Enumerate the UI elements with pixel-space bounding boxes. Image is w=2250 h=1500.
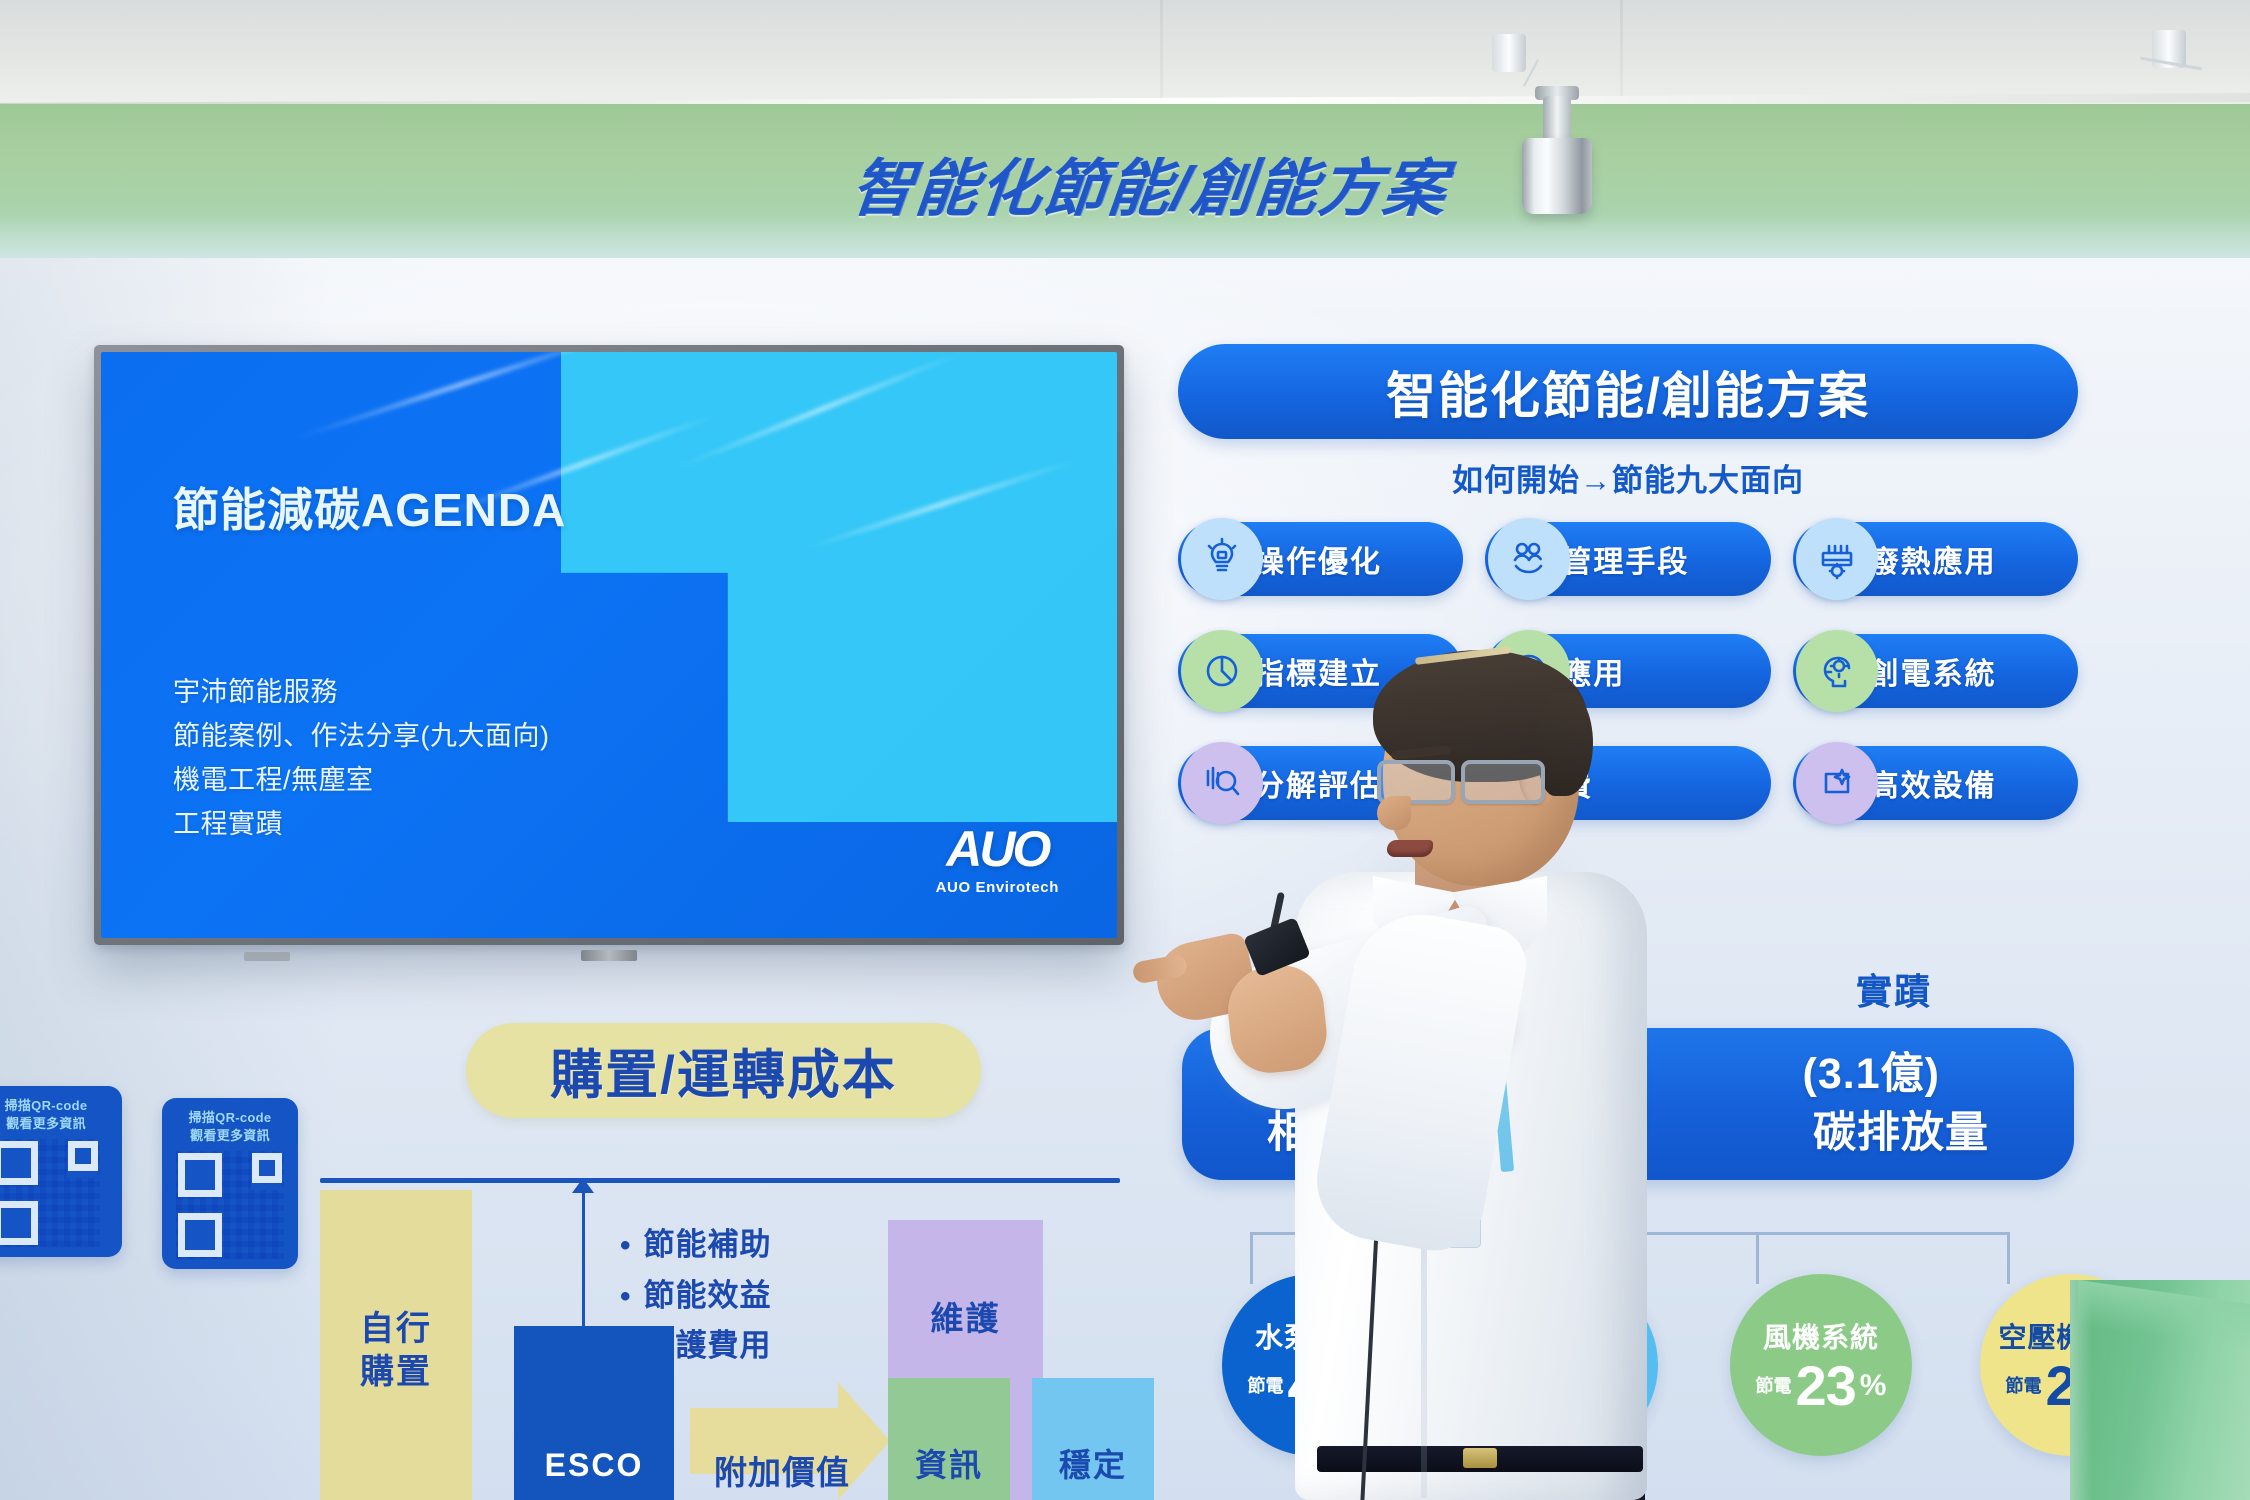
exhibition-booth-photo: 智能化節能/創能方案 節能減碳AGENDA 宇沛節能服務 節能案例、作法分享(九… (0, 0, 2250, 1500)
aspect-pill-waste-heat-application[interactable]: 廢熱應用 (1793, 522, 2078, 596)
slide-bullet-item: 節能案例、作法分享(九大面向) (173, 714, 549, 758)
qr-card-line-2: 觀看更多資訊 (0, 1115, 112, 1133)
qr-card-line-1: 掃描QR-code (172, 1109, 288, 1127)
auo-logo-mark: AUO (936, 824, 1059, 874)
spotlight-bracket (1492, 34, 1526, 72)
auo-logo-subtitle: AUO Envirotech (936, 879, 1059, 896)
metric-unit: % (1860, 1369, 1887, 1403)
chart-bar-label: 穩定 (1032, 1440, 1154, 1486)
poster-header-title: 智能化節能/創能方案 (1386, 356, 1870, 428)
chart-bar-label: 自行購置 (320, 1308, 472, 1393)
metric-tag: 節電 (1756, 1377, 1792, 1395)
metric-name: 風機系統 (1763, 1316, 1879, 1356)
presenter-mouth (1387, 840, 1433, 857)
aspect-pill-management-method[interactable]: 管理手段 (1485, 522, 1770, 596)
display-bezel-sticker (244, 952, 290, 961)
aspect-pill-label: 創電系統 (1869, 649, 1997, 693)
lightbulb-icon (1181, 518, 1263, 600)
slide-bullet-item: 宇沛節能服務 (173, 670, 549, 714)
auo-logo: AUO AUO Envirotech (936, 824, 1059, 896)
slide-cyan-shape (561, 352, 1117, 822)
sparkle-box-icon (1796, 742, 1878, 824)
metric-value-row: 節電 23 % (1756, 1358, 1887, 1414)
chart-bar-label: 資訊 (888, 1440, 1010, 1486)
presenter-nose (1377, 796, 1411, 830)
metric-value: 23 (1796, 1358, 1856, 1414)
qr-card-left-cut[interactable]: 掃描QR-code 觀看更多資訊 (0, 1086, 122, 1257)
chart-bar-self-purchase: 自行購置 (320, 1190, 472, 1500)
qr-card-line-1: 掃描QR-code (0, 1097, 112, 1115)
aspect-pill-label: 操作優化 (1254, 537, 1382, 581)
savings-bullet-item: 節能效益 (620, 1271, 772, 1322)
poster-header-pill: 智能化節能/創能方案 (1178, 344, 2078, 439)
aspect-pill-power-generation-system[interactable]: 創電系統 (1793, 634, 2078, 708)
slide-bullet-list: 宇沛節能服務 節能案例、作法分享(九大面向) 機電工程/無塵室 工程實蹟 (173, 670, 549, 846)
ceiling-panel-seam (1160, 0, 1163, 100)
savings-bullet-item: 節能補助 (620, 1220, 772, 1271)
aspect-pill-operation-optimization[interactable]: 操作優化 (1178, 522, 1463, 596)
qr-code-image (176, 1151, 284, 1259)
aspect-pill-high-efficiency-equipment[interactable]: 高效設備 (1793, 746, 2078, 820)
stats-line-1-right: (3.1億) (1803, 1050, 1940, 1098)
metric-circle-fan: 風機系統 節電 23 % (1730, 1274, 1912, 1456)
stats-line-2-right: 碳排放量 (1813, 1109, 1989, 1157)
stats-year-suffix: 實蹟 (1856, 971, 1932, 1012)
qr-card[interactable]: 掃描QR-code 觀看更多資訊 (162, 1098, 298, 1269)
slide-bullet-item: 工程實蹟 (173, 802, 549, 846)
cost-comparison-chart: 自行購置 節能補助 節能效益 維護費用 ESCO 附加價值 維護 資訊 穩定 (320, 1178, 1120, 1500)
chart-bar-label: 維護 (888, 1292, 1043, 1340)
poster-subtitle: 如何開始→節能九大面向 (1178, 455, 2078, 500)
aspect-pill-label: 廢熱應用 (1869, 537, 1997, 581)
display-screen: 節能減碳AGENDA 宇沛節能服務 節能案例、作法分享(九大面向) 機電工程/無… (101, 352, 1117, 938)
brain-head-icon (1796, 630, 1878, 712)
people-hand-icon (1488, 518, 1570, 600)
green-display-block (2070, 1280, 2250, 1500)
ceiling-panel-seam (1620, 0, 1623, 100)
chart-bar-stability: 穩定 (1032, 1378, 1154, 1500)
glasses-lens-right (1461, 760, 1545, 804)
display-bezel-badge (581, 950, 637, 961)
slide-title: 節能減碳AGENDA (173, 474, 566, 540)
chart-bar-information: 資訊 (888, 1378, 1010, 1500)
chart-bar-label: ESCO (514, 1447, 674, 1484)
qr-code-image (0, 1139, 100, 1247)
chart-bar-esco: ESCO (514, 1326, 674, 1500)
wall-mounted-display: 節能減碳AGENDA 宇沛節能服務 節能案例、作法分享(九大面向) 機電工程/無… (94, 345, 1124, 945)
factory-gear-icon (1796, 518, 1878, 600)
qr-card-line-2: 觀看更多資訊 (172, 1127, 288, 1145)
slide-bullet-item: 機電工程/無塵室 (173, 758, 549, 802)
cost-section-title: 購置/運轉成本 (550, 1033, 897, 1109)
aspect-pill-label: 管理手段 (1561, 537, 1689, 581)
presenter-belt-buckle (1463, 1448, 1497, 1468)
aspect-pill-label: 高效設備 (1869, 761, 1997, 805)
spotlight-neck (1543, 96, 1571, 142)
added-value-label: 附加價值 (692, 1446, 872, 1494)
venue-banner-title: 智能化節能/創能方案 (685, 138, 1614, 228)
chart-top-rule (320, 1178, 1120, 1183)
presenter (1265, 640, 1685, 1500)
cost-section-title-pill: 購置/運轉成本 (466, 1023, 981, 1118)
metric-tag: 節電 (2006, 1377, 2042, 1395)
